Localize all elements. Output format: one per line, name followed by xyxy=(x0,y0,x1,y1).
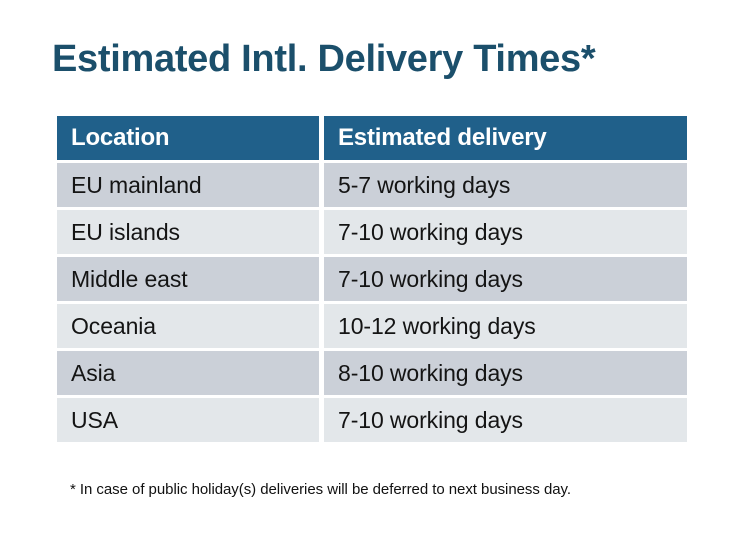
cell-location: EU islands xyxy=(57,210,319,254)
table-row: Asia 8-10 working days xyxy=(57,351,687,395)
table-row: EU islands 7-10 working days xyxy=(57,210,687,254)
estimated-delivery-times-table: Location Estimated delivery EU mainland … xyxy=(52,113,692,445)
table-header-row: Location Estimated delivery xyxy=(57,116,687,160)
table-row: EU mainland 5-7 working days xyxy=(57,163,687,207)
footnote: * In case of public holiday(s) deliverie… xyxy=(70,481,571,498)
cell-location: Asia xyxy=(57,351,319,395)
cell-delivery: 7-10 working days xyxy=(324,398,687,442)
cell-delivery: 5-7 working days xyxy=(324,163,687,207)
cell-delivery: 8-10 working days xyxy=(324,351,687,395)
cell-location: Oceania xyxy=(57,304,319,348)
table-row: Middle east 7-10 working days xyxy=(57,257,687,301)
page-title: Estimated Intl. Delivery Times* xyxy=(52,36,595,82)
cell-location: EU mainland xyxy=(57,163,319,207)
table-row: USA 7-10 working days xyxy=(57,398,687,442)
column-header-location: Location xyxy=(57,116,319,160)
cell-delivery: 10-12 working days xyxy=(324,304,687,348)
cell-location: USA xyxy=(57,398,319,442)
cell-delivery: 7-10 working days xyxy=(324,210,687,254)
table-header: Location Estimated delivery xyxy=(57,116,687,160)
cell-delivery: 7-10 working days xyxy=(324,257,687,301)
column-header-estimated-delivery: Estimated delivery xyxy=(324,116,687,160)
table-row: Oceania 10-12 working days xyxy=(57,304,687,348)
cell-location: Middle east xyxy=(57,257,319,301)
delivery-times-page: Estimated Intl. Delivery Times* Location… xyxy=(0,0,745,536)
table-body: EU mainland 5-7 working days EU islands … xyxy=(57,163,687,442)
